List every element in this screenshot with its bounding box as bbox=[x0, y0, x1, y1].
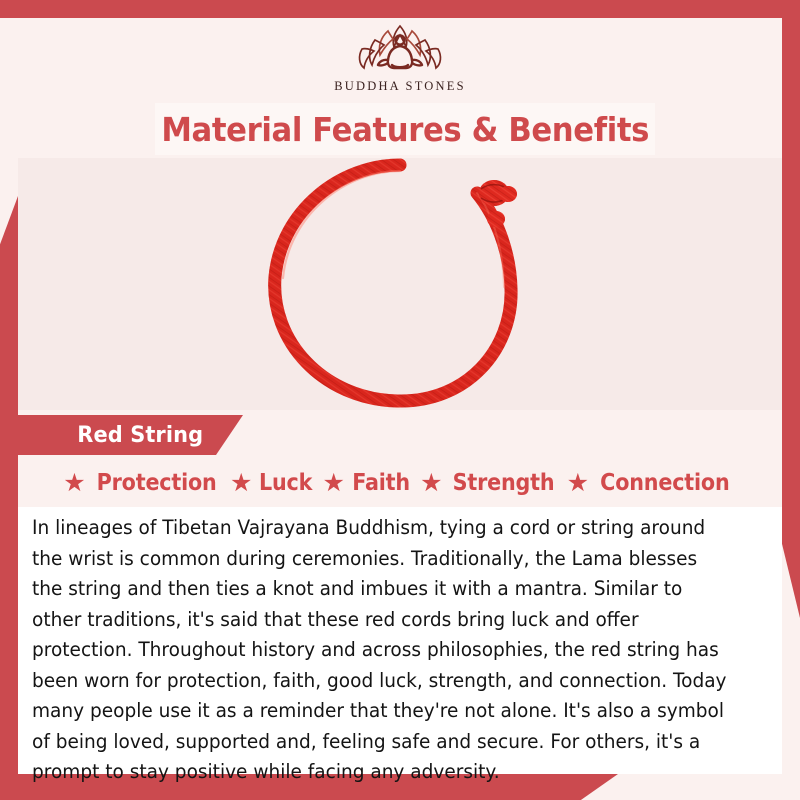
benefit-item-connection: ★ Connection bbox=[567, 470, 737, 496]
red-string-bracelet-image bbox=[245, 158, 555, 410]
description-panel: In lineages of Tibetan Vajrayana Buddhis… bbox=[18, 507, 782, 774]
lotus-meditation-icon bbox=[348, 18, 452, 78]
description-text: In lineages of Tibetan Vajrayana Buddhis… bbox=[32, 513, 727, 788]
benefit-label: Strength bbox=[452, 470, 554, 496]
benefit-item-strength: ★ Strength bbox=[420, 470, 560, 496]
material-features-infographic: BUDDHA STONES Material Features & Benefi… bbox=[0, 0, 800, 800]
star-icon: ★ bbox=[567, 471, 589, 496]
star-icon: ★ bbox=[420, 471, 442, 496]
frame-top-bar bbox=[0, 0, 800, 18]
product-image-panel bbox=[18, 158, 782, 410]
product-name-banner: Red String bbox=[18, 415, 243, 455]
title-band: Material Features & Benefits bbox=[155, 103, 655, 155]
benefit-label: Faith bbox=[352, 470, 410, 496]
brand-wordmark: BUDDHA STONES bbox=[334, 79, 466, 94]
benefits-row: ★ Protection ★ Luck ★ Faith ★ Strength ★… bbox=[18, 462, 782, 504]
star-icon: ★ bbox=[323, 471, 345, 496]
benefit-label: Luck bbox=[259, 470, 312, 496]
benefit-item-protection: ★ Protection bbox=[63, 470, 223, 496]
star-icon: ★ bbox=[230, 471, 252, 496]
benefit-item-faith: ★ Faith bbox=[323, 470, 414, 496]
page-title: Material Features & Benefits bbox=[161, 110, 649, 149]
star-icon: ★ bbox=[63, 471, 85, 496]
product-name-label: Red String bbox=[77, 423, 203, 448]
brand-header: BUDDHA STONES bbox=[0, 18, 800, 100]
benefit-item-luck: ★ Luck bbox=[230, 470, 316, 496]
benefit-label: Protection bbox=[96, 470, 216, 496]
frame-left-bar bbox=[0, 196, 18, 800]
benefit-label: Connection bbox=[600, 470, 729, 496]
